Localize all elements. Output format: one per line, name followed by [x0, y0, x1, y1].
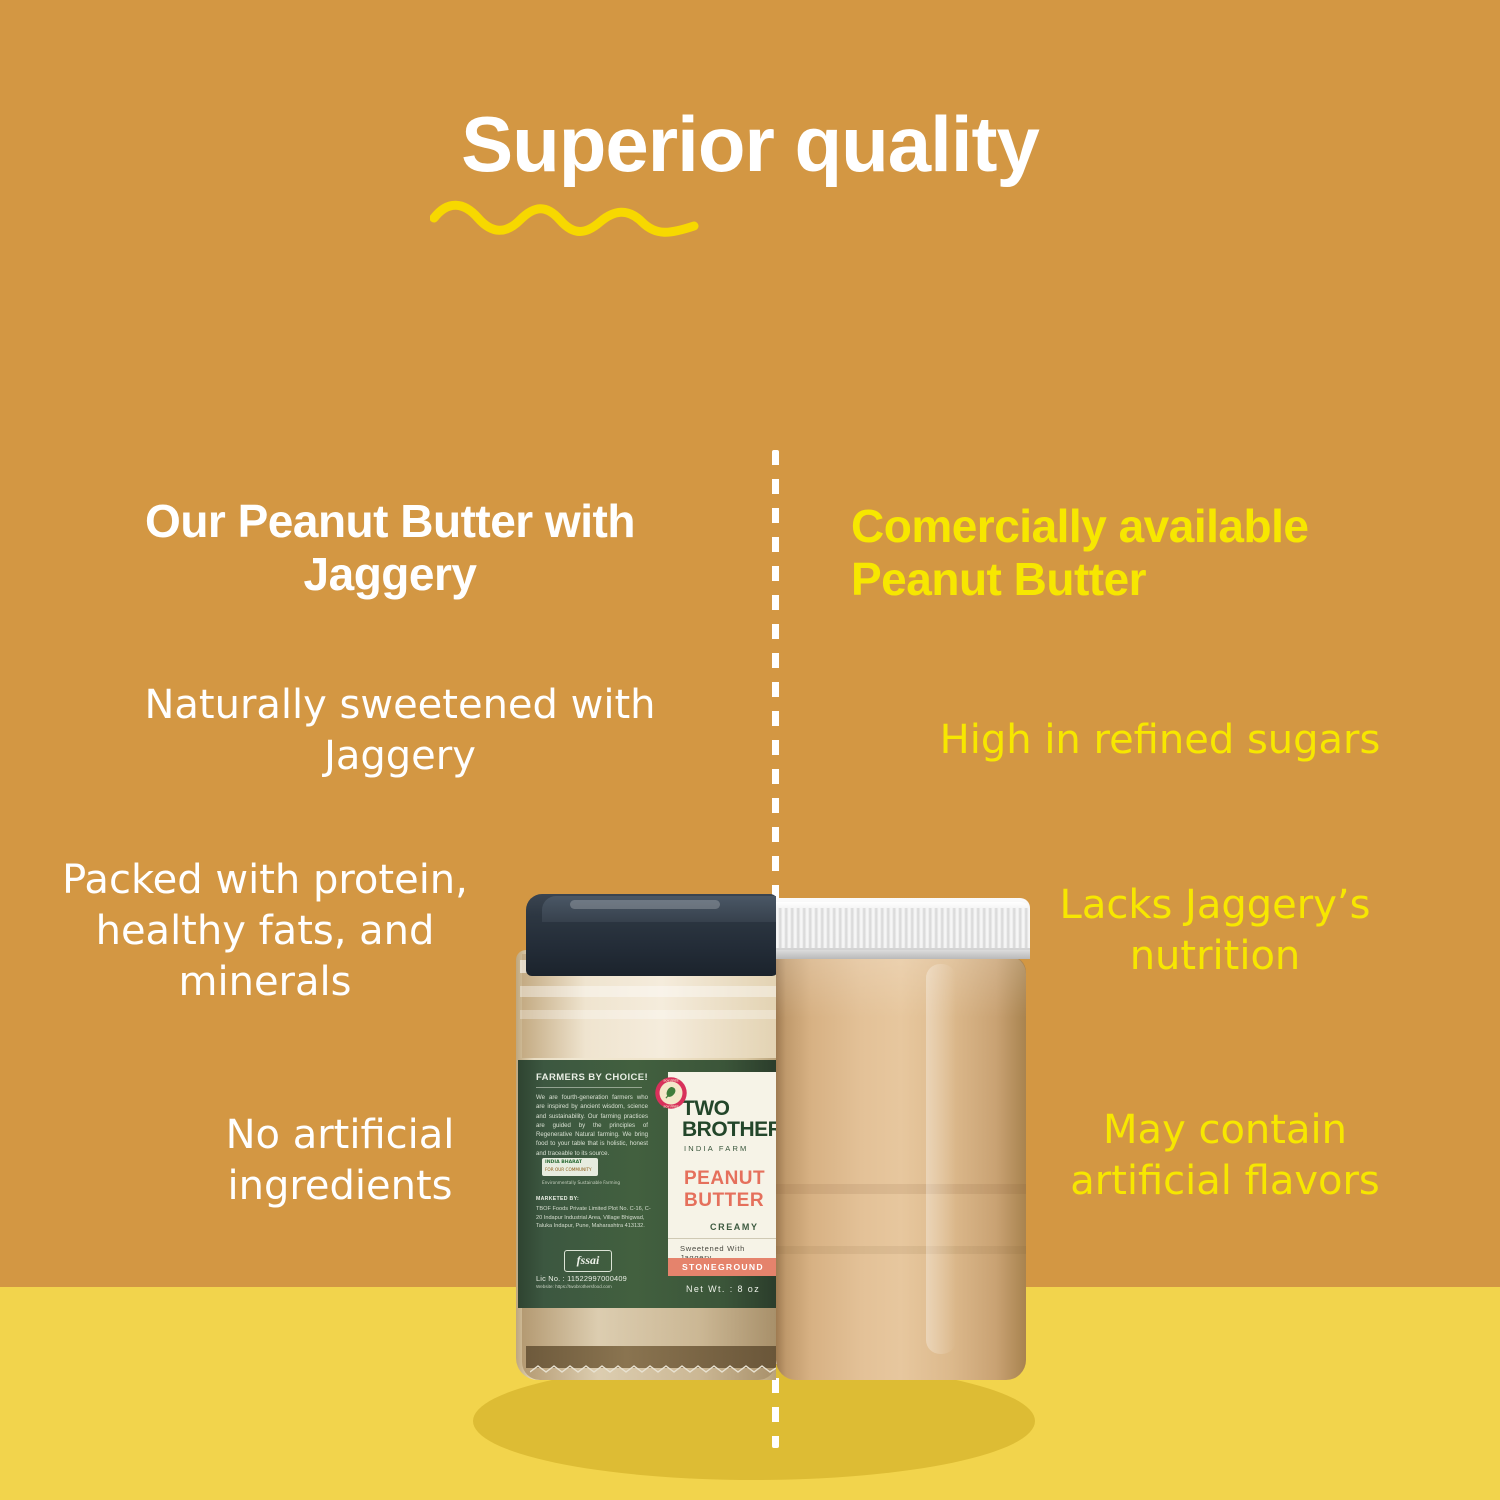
- left-column-heading: Our Peanut Butter with Jaggery: [60, 495, 720, 602]
- right-drawback-2: Lacks Jaggery’s nutrition: [1000, 880, 1430, 982]
- right-drawback-3: May contain artificial flavors: [1025, 1105, 1425, 1207]
- background-orange: [0, 0, 1500, 1287]
- right-column-heading: Comercially available Peanut Butter: [851, 500, 1471, 607]
- right-drawback-1: High in refined sugars: [855, 715, 1465, 766]
- left-benefit-2: Packed with protein, healthy fats, and m…: [20, 855, 510, 1009]
- jar-floor-shadow: [473, 1362, 1035, 1480]
- left-benefit-1: Naturally sweetened with Jaggery: [140, 680, 660, 782]
- page-title: Superior quality: [0, 104, 1500, 186]
- squiggle-underline-icon: [430, 196, 700, 240]
- vertical-dashed-divider: [772, 450, 779, 1448]
- left-benefit-3: No artificial ingredients: [150, 1110, 530, 1212]
- poster-canvas: Superior quality Our Peanut Butter with …: [0, 0, 1500, 1500]
